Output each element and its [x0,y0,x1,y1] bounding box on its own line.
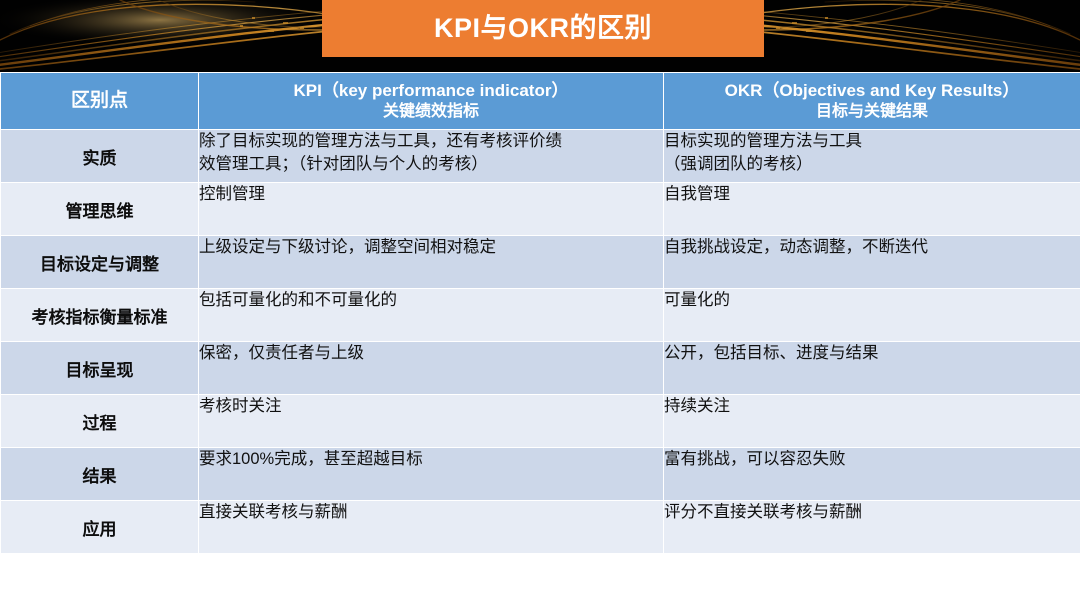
cell-difference-point: 过程 [1,395,199,448]
text-line: 保密，仅责任者与上级 [199,342,663,365]
text-line: 上级设定与下级讨论，调整空间相对稳定 [199,236,663,259]
table-row: 管理思维控制管理自我管理 [1,183,1080,236]
cell-difference-point: 结果 [1,448,199,501]
cell-okr-value: 评分不直接关联考核与薪酬 [664,501,1080,554]
cell-difference-point: 目标设定与调整 [1,236,199,289]
cell-okr-value: 富有挑战，可以容忍失败 [664,448,1080,501]
kpi-okr-comparison-table: 区别点 KPI（key performance indicator） 关键绩效指… [0,72,1080,554]
cell-okr-value: 自我管理 [664,183,1080,236]
column-header-point: 区别点 [1,73,199,130]
slide-canvas: KPI与OKR的区别 区别点 KPI（key performance indic… [0,0,1080,609]
cell-kpi-value: 要求100%完成，甚至超越目标 [199,448,664,501]
text-line: （强调团队的考核） [664,153,1080,176]
column-header-kpi: KPI（key performance indicator） 关键绩效指标 [199,73,664,130]
cell-difference-point: 管理思维 [1,183,199,236]
cell-difference-point: 实质 [1,130,199,183]
text-line: 包括可量化的和不可量化的 [199,289,663,312]
cell-kpi-value: 除了目标实现的管理方法与工具，还有考核评价绩效管理工具；（针对团队与个人的考核） [199,130,664,183]
column-header-kpi-main: KPI（key performance indicator） [205,80,657,102]
table-header-row: 区别点 KPI（key performance indicator） 关键绩效指… [1,73,1080,130]
cell-okr-value: 可量化的 [664,289,1080,342]
cell-kpi-value: 保密，仅责任者与上级 [199,342,664,395]
text-line: 要求100%完成，甚至超越目标 [199,448,663,471]
column-header-point-label: 区别点 [7,89,192,114]
table-row: 目标设定与调整上级设定与下级讨论，调整空间相对稳定自我挑战设定，动态调整，不断迭… [1,236,1080,289]
column-header-okr-sub: 目标与关键结果 [670,102,1074,123]
text-line: 直接关联考核与薪酬 [199,501,663,524]
table-row: 结果要求100%完成，甚至超越目标富有挑战，可以容忍失败 [1,448,1080,501]
cell-kpi-value: 控制管理 [199,183,664,236]
text-line: 评分不直接关联考核与薪酬 [664,501,1080,524]
cell-kpi-value: 包括可量化的和不可量化的 [199,289,664,342]
text-line: 自我管理 [664,183,1080,206]
table-body: 实质除了目标实现的管理方法与工具，还有考核评价绩效管理工具；（针对团队与个人的考… [1,130,1080,554]
cell-okr-value: 公开，包括目标、进度与结果 [664,342,1080,395]
slide-title-plate: KPI与OKR的区别 [322,0,764,57]
table-row: 考核指标衡量标准包括可量化的和不可量化的可量化的 [1,289,1080,342]
cell-kpi-value: 直接关联考核与薪酬 [199,501,664,554]
table-row: 目标呈现保密，仅责任者与上级公开，包括目标、进度与结果 [1,342,1080,395]
cell-difference-point: 目标呈现 [1,342,199,395]
text-line: 可量化的 [664,289,1080,312]
text-line: 控制管理 [199,183,663,206]
column-header-kpi-sub: 关键绩效指标 [205,102,657,123]
table-row: 应用直接关联考核与薪酬评分不直接关联考核与薪酬 [1,501,1080,554]
page-title: KPI与OKR的区别 [434,15,652,42]
table-row: 过程考核时关注持续关注 [1,395,1080,448]
cell-okr-value: 持续关注 [664,395,1080,448]
text-line: 考核时关注 [199,395,663,418]
text-line: 自我挑战设定，动态调整，不断迭代 [664,236,1080,259]
text-line: 公开，包括目标、进度与结果 [664,342,1080,365]
text-line: 目标实现的管理方法与工具 [664,130,1080,153]
text-line: 效管理工具；（针对团队与个人的考核） [199,153,663,176]
cell-okr-value: 目标实现的管理方法与工具（强调团队的考核） [664,130,1080,183]
column-header-okr-main: OKR（Objectives and Key Results） [670,80,1074,102]
text-line: 除了目标实现的管理方法与工具，还有考核评价绩 [199,130,663,153]
cell-difference-point: 考核指标衡量标准 [1,289,199,342]
cell-kpi-value: 考核时关注 [199,395,664,448]
cell-kpi-value: 上级设定与下级讨论，调整空间相对稳定 [199,236,664,289]
text-line: 持续关注 [664,395,1080,418]
text-line: 富有挑战，可以容忍失败 [664,448,1080,471]
cell-okr-value: 自我挑战设定，动态调整，不断迭代 [664,236,1080,289]
cell-difference-point: 应用 [1,501,199,554]
column-header-okr: OKR（Objectives and Key Results） 目标与关键结果 [664,73,1080,130]
table-row: 实质除了目标实现的管理方法与工具，还有考核评价绩效管理工具；（针对团队与个人的考… [1,130,1080,183]
